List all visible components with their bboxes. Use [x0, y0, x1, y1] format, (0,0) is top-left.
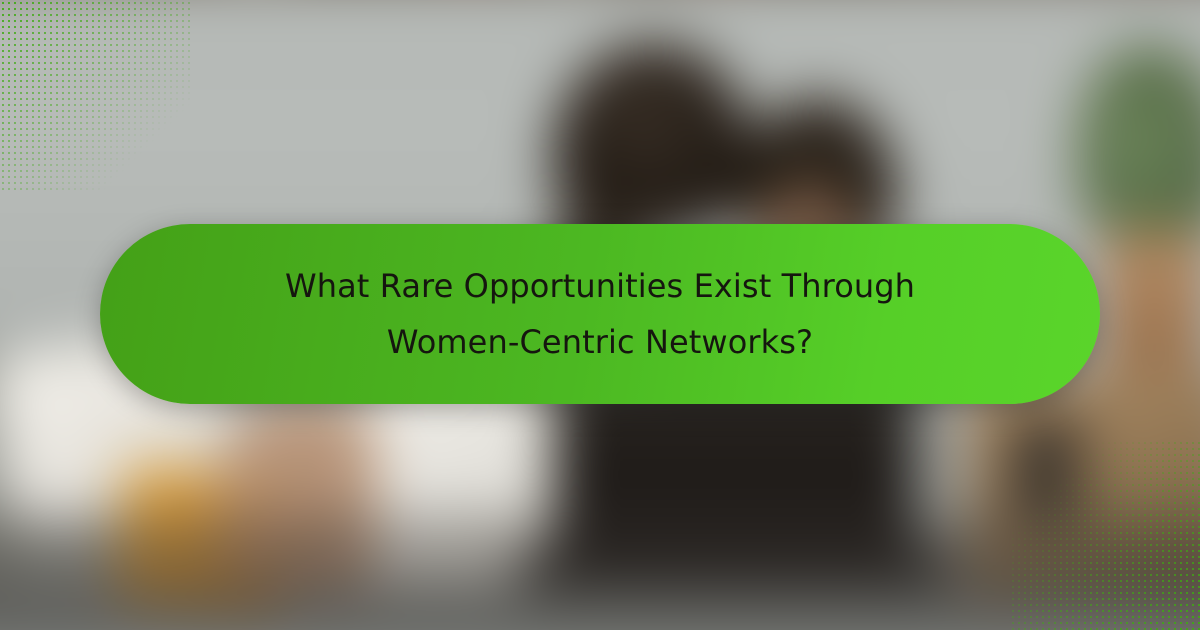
floor: [0, 511, 1200, 630]
page-title: What Rare Opportunities Exist Through Wo…: [285, 258, 915, 370]
potted-plant: [1077, 45, 1200, 257]
plant-pot: [1104, 230, 1200, 373]
social-card: What Rare Opportunities Exist Through Wo…: [0, 0, 1200, 630]
right-dark-object: [1008, 416, 1082, 522]
headline-pill: What Rare Opportunities Exist Through Wo…: [100, 224, 1100, 404]
